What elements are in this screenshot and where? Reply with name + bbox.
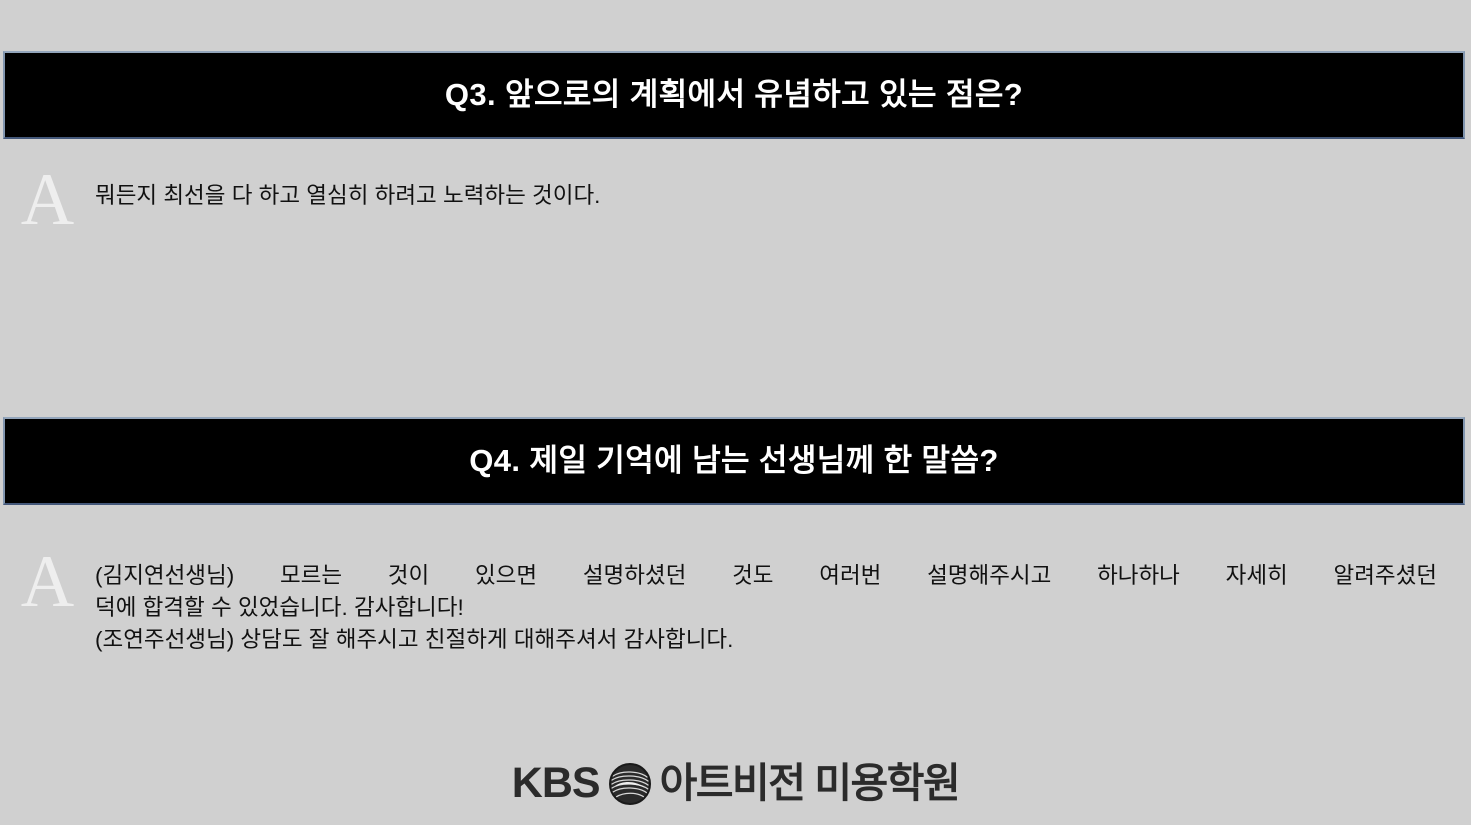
- globe-swirl-icon: [609, 763, 651, 805]
- question-bar-q3: Q3. 앞으로의 계획에서 유념하고 있는 점은?: [3, 51, 1465, 139]
- academy-name: 아트비전 미용학원: [660, 763, 960, 804]
- question-title-q4: Q4. 제일 기억에 남는 선생님께 한 말씀?: [469, 444, 998, 478]
- answer-text-q3: 뭐든지 최선을 다 하고 열심히 하려고 노력하는 것이다.: [95, 166, 1471, 212]
- question-bar-q4: Q4. 제일 기억에 남는 선생님께 한 말씀?: [3, 417, 1465, 505]
- answer-line: (조연주선생님) 상담도 잘 해주시고 친절하게 대해주셔서 감사합니다.: [95, 624, 1437, 656]
- answer-line: 뭐든지 최선을 다 하고 열심히 하려고 노력하는 것이다.: [95, 180, 1437, 212]
- answer-marker-q3: A: [0, 166, 95, 234]
- answer-block-q4: A (김지연선생님) 모르는 것이 있으면 설명하셨던 것도 여러번 설명해주시…: [0, 548, 1471, 656]
- kbs-wordmark: KBS: [512, 762, 600, 805]
- question-title-q3: Q3. 앞으로의 계획에서 유념하고 있는 점은?: [445, 78, 1023, 112]
- answer-block-q3: A 뭐든지 최선을 다 하고 열심히 하려고 노력하는 것이다.: [0, 166, 1471, 234]
- answer-text-q4: (김지연선생님) 모르는 것이 있으면 설명하셨던 것도 여러번 설명해주시고 …: [95, 548, 1471, 656]
- answer-line: (김지연선생님) 모르는 것이 있으면 설명하셨던 것도 여러번 설명해주시고 …: [95, 560, 1437, 592]
- answer-line: 덕에 합격할 수 있었습니다. 감사합니다!: [95, 592, 1437, 624]
- slide-canvas: Q3. 앞으로의 계획에서 유념하고 있는 점은? A 뭐든지 최선을 다 하고…: [0, 0, 1471, 825]
- answer-marker-q4: A: [0, 548, 95, 616]
- footer-logo: KBS 아트비전 미용학원: [0, 762, 1471, 805]
